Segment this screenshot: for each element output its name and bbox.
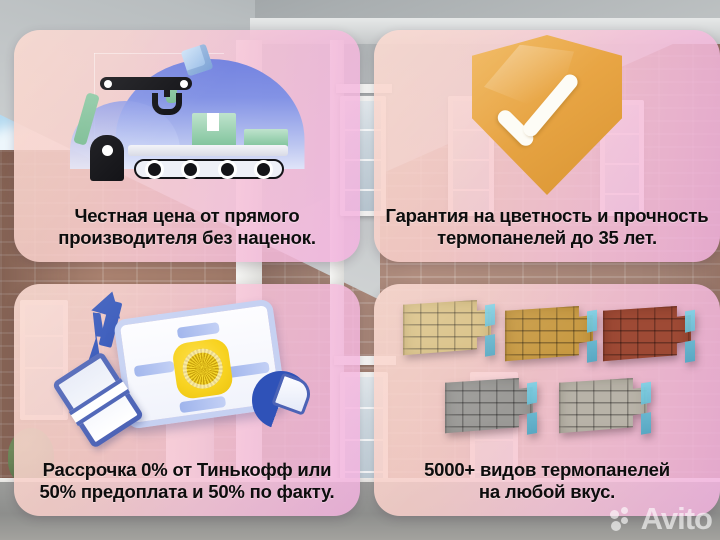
- shield-check-icon: [472, 35, 622, 195]
- robot-arm-bar: [100, 77, 192, 90]
- ui-chip-top: [177, 322, 220, 339]
- feature-card-variety[interactable]: 5000+ видов термопанелей на любой вкус.: [374, 284, 720, 516]
- panel-sample-golden: [505, 306, 593, 366]
- caption-line-1: Рассрочка 0% от Тинькофф или: [24, 459, 350, 482]
- card-illustration-area: [14, 30, 360, 200]
- caption-line-2: термопанелей до 35 лет.: [384, 227, 710, 250]
- caption-line-2: 50% предоплата и 50% по факту.: [24, 481, 350, 504]
- caption-line-2: производителя без наценок.: [24, 227, 350, 250]
- conveyor-rollers: [134, 159, 284, 179]
- avito-watermark: Avito: [610, 503, 712, 534]
- panel-sample-gray: [445, 378, 533, 438]
- feature-card-warranty[interactable]: Гарантия на цветность и прочность термоп…: [374, 30, 720, 262]
- card-illustration-area: [374, 284, 720, 454]
- brick-panel-samples: [397, 294, 697, 444]
- caption-line-1: Честная цена от прямого: [24, 205, 350, 228]
- caption-line-1: Гарантия на цветность и прочность: [384, 205, 710, 228]
- coin-engraving: [180, 346, 225, 391]
- tablet-coin-money-chart-icon: [62, 299, 312, 439]
- feature-card-grid: Честная цена от прямого производителя бе…: [0, 0, 720, 540]
- coin-emblem-icon: [171, 337, 234, 400]
- card-illustration-area: [14, 284, 360, 454]
- carton-tape: [207, 113, 219, 131]
- conveyor-belt: [128, 145, 288, 156]
- factory-robot-conveyor-icon: [52, 49, 322, 181]
- pie-chart-icon: [252, 371, 310, 429]
- card-caption-fair-price: Честная цена от прямого производителя бе…: [14, 205, 360, 262]
- panel-sample-beige: [403, 300, 491, 360]
- ui-chip-left: [134, 361, 175, 377]
- caption-line-1: 5000+ видов термопанелей: [384, 459, 710, 482]
- robot-base-motor: [90, 135, 124, 181]
- panel-sample-red-brown: [603, 306, 691, 366]
- panel-sample-light-gray: [559, 378, 647, 438]
- checkmark-icon: [498, 83, 596, 145]
- feature-card-installment[interactable]: Рассрочка 0% от Тинькофф или 50% предопл…: [14, 284, 360, 516]
- card-caption-installment: Рассрочка 0% от Тинькофф или 50% предопл…: [14, 459, 360, 516]
- cash-band: [69, 378, 130, 426]
- avito-dots-icon: [610, 507, 636, 531]
- robot-gripper-icon: [152, 93, 182, 115]
- feature-card-fair-price[interactable]: Честная цена от прямого производителя бе…: [14, 30, 360, 262]
- card-illustration-area: [374, 30, 720, 200]
- avito-wordmark: Avito: [641, 503, 712, 534]
- card-caption-warranty: Гарантия на цветность и прочность термоп…: [374, 205, 720, 262]
- ui-chip-bottom: [179, 396, 226, 413]
